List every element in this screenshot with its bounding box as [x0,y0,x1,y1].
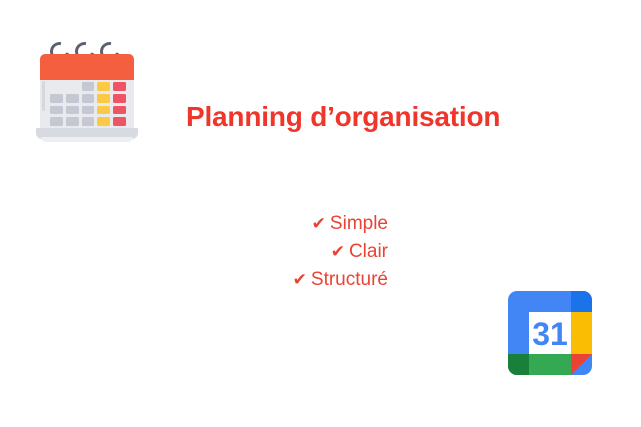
calendar-day-cell [82,106,95,115]
calendar-day-cell [66,106,79,115]
calendar-day-cell [50,94,63,103]
check-icon: ✔ [293,270,307,289]
calendar-day-cell [82,117,95,126]
calendar-day-cell [113,94,126,103]
check-icon: ✔ [331,242,345,261]
list-item-label: Clair [349,241,388,262]
calendar-day-cell [97,117,110,126]
slide-canvas: Planning d’organisation ✔Simple ✔Clair ✔… [0,0,641,427]
google-calendar-logo: 31 [508,291,592,375]
calendar-day-cell [113,82,126,91]
calendar-day-cell [66,94,79,103]
calendar-day-cell [97,94,110,103]
calendar-day-cell [82,82,95,91]
calendar-day-cell [50,117,63,126]
calendar-day-cell [66,117,79,126]
list-item-label: Simple [330,213,388,234]
calendar-day-grid [50,82,126,126]
list-item-label: Structuré [311,269,388,290]
feature-list: ✔Simple ✔Clair ✔Structuré [180,210,388,294]
calendar-day-cell [66,82,79,91]
list-item: ✔Simple [180,210,388,238]
calendar-day-cell [82,94,95,103]
check-icon: ✔ [312,214,326,233]
calendar-day-cell [97,82,110,91]
page-title: Planning d’organisation [186,101,500,133]
list-item: ✔Structuré [180,266,388,294]
calendar-day-cell [113,106,126,115]
calendar-day-cell [50,106,63,115]
calendar-day-cell [97,106,110,115]
calendar-day-cell [113,117,126,126]
calendar-shadow [41,137,133,142]
google-calendar-day-number: 31 [532,316,568,352]
calendar-spine [42,81,45,111]
calendar-header-bar [40,54,134,80]
calendar-day-cell [50,82,63,91]
flat-calendar-icon [36,40,138,145]
list-item: ✔Clair [180,238,388,266]
